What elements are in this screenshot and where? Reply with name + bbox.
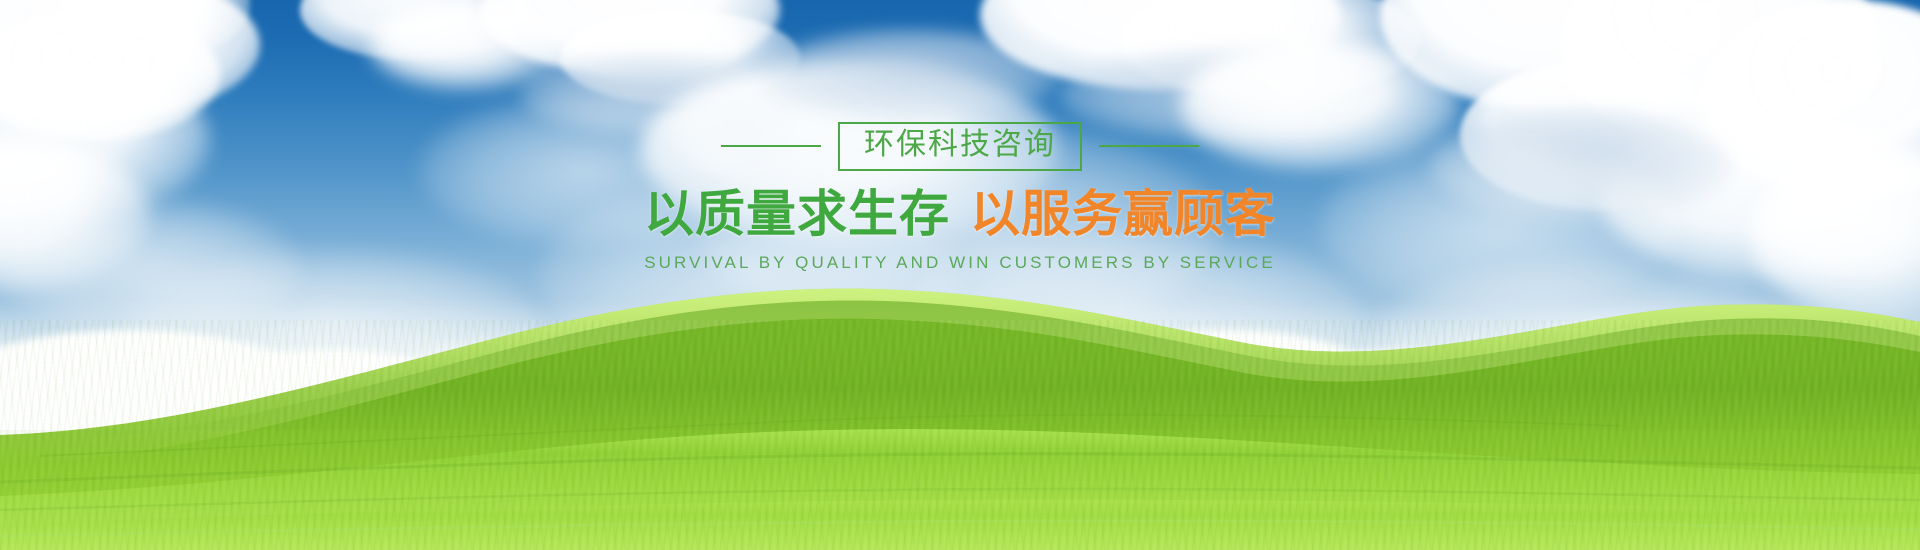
grass-hills [0, 260, 1920, 550]
headline-green-text: 以质量求生存 [644, 185, 950, 243]
eyebrow-label: 环保科技咨询 [864, 127, 1056, 162]
left-decorative-rule [721, 145, 821, 147]
cloud-shape [300, 0, 530, 60]
cloud-shape [560, 10, 800, 105]
headline: 以质量求生存以服务赢顾客 [0, 189, 1920, 239]
cloud-shape [1120, 0, 1420, 100]
cloud-shape [1380, 0, 1720, 110]
hero-banner: 环保科技咨询 以质量求生存以服务赢顾客 SURVIVAL BY QUALITY … [0, 0, 1920, 550]
cloud-shape [480, 0, 780, 75]
cloud-shape [980, 0, 1340, 90]
banner-copy: 环保科技咨询 以质量求生存以服务赢顾客 SURVIVAL BY QUALITY … [0, 118, 1920, 273]
eyebrow-row: 环保科技咨询 [0, 118, 1920, 174]
eyebrow-box: 环保科技咨询 [838, 122, 1082, 171]
subline-english: SURVIVAL BY QUALITY AND WIN CUSTOMERS BY… [0, 253, 1920, 273]
headline-orange-text: 以服务赢顾客 [970, 185, 1276, 243]
cloud-shape [60, 0, 250, 60]
cloud-shadow-shape [760, 30, 1060, 120]
cloud-shape [370, 0, 570, 90]
right-decorative-rule [1099, 145, 1199, 147]
cloud-shape [0, 0, 260, 120]
